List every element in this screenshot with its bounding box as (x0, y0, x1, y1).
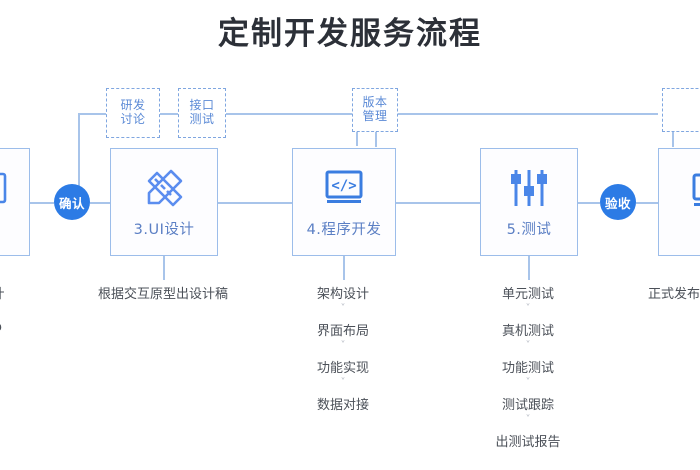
node-caption: 5.测试 (507, 218, 552, 239)
connector-node4-node5 (396, 202, 480, 204)
connector-node5-badge2 (578, 202, 600, 204)
chevron-icon: ˅ (478, 303, 578, 314)
tag-version-control[interactable]: 版本 管理 (352, 88, 398, 132)
badge-label: 验收 (605, 193, 631, 212)
connector-top-left-stub (78, 113, 106, 115)
subcap-col4-item-2: 数据对接 (293, 394, 393, 413)
node-release[interactable]: 6 (658, 148, 700, 256)
badge-acceptance[interactable]: 验收 (600, 184, 636, 220)
tag-line1: 版本 (362, 96, 387, 110)
tag-right-cutoff[interactable] (662, 88, 700, 132)
node-caption: 划 (0, 218, 2, 239)
node-ui-design[interactable]: 3.UI设计 (110, 148, 218, 256)
node-product-planning[interactable]: 划 (0, 148, 30, 256)
chevron-icon: ˅ (478, 340, 578, 351)
pencil-ruler-icon (141, 165, 187, 211)
tag-line2: 讨论 (120, 113, 145, 127)
code-window-icon: </> (321, 165, 367, 211)
connector-badge2-node6 (636, 202, 658, 204)
chevron-icon: ˅ (478, 377, 578, 388)
connector-badge1-node3 (90, 202, 110, 204)
connector-node3-node4 (218, 202, 292, 204)
badge-confirm[interactable]: 确认 (54, 184, 90, 220)
node-testing[interactable]: 5.测试 (480, 148, 578, 256)
chevron-icon: ˅ (293, 303, 393, 314)
tag-line2: 测试 (189, 113, 214, 127)
node-program-development[interactable]: </> 4.程序开发 (292, 148, 396, 256)
flowchart-canvas: 定制开发服务流程 划 (0, 0, 700, 470)
subcap-col4-header: 架构设计 (293, 283, 393, 302)
chevron-icon: ˅ (293, 377, 393, 388)
subcap-col5-item-2: 测试跟踪 (478, 394, 578, 413)
subcap-col6-header: 正式发布 (648, 283, 700, 302)
subcap-col5-item-1: 功能测试 (478, 357, 578, 376)
connector-tag3-to-node4 (375, 131, 377, 147)
badge-label: 确认 (59, 193, 85, 212)
tag-rd-discussion[interactable]: 研发 讨论 (106, 88, 160, 138)
connector-bus-right (396, 113, 658, 115)
connector-node3-subs (163, 256, 165, 280)
chevron-icon: ˅ (293, 340, 393, 351)
connector-tag4-to-node6 (672, 131, 674, 147)
tag-line1: 研发 (120, 99, 145, 113)
subcap-col4-item-1: 功能实现 (293, 357, 393, 376)
subcap-col3-header: 根据交互原型出设计稿 (73, 283, 253, 302)
subcap-col2-item-0: o (0, 320, 28, 335)
connector-tag2-right (226, 113, 356, 115)
tag-interface-test[interactable]: 接口 测试 (178, 88, 226, 138)
node-caption: 4.程序开发 (307, 218, 382, 239)
tag-line1: 接口 (189, 99, 214, 113)
connector-node2-badge1 (30, 202, 54, 204)
subcap-col5-item-3: 出测试报告 (478, 431, 578, 450)
node-caption: 3.UI设计 (134, 218, 195, 239)
subcap-col5-header: 单元测试 (478, 283, 578, 302)
subcap-col2-header: 计 (0, 283, 28, 302)
subcap-col5-item-0: 真机测试 (478, 320, 578, 339)
subcap-col4-item-0: 界面布局 (293, 320, 393, 339)
connector-tag1-tag2 (160, 113, 178, 115)
chevron-icon: ˅ (478, 414, 578, 425)
connector-node4-subs (343, 256, 345, 280)
svg-text:</>: </> (331, 178, 356, 194)
tag-line2: 管理 (362, 110, 387, 124)
planning-icon (0, 165, 14, 211)
launch-icon (687, 168, 700, 214)
page-title: 定制开发服务流程 (0, 8, 700, 53)
connector-node5-subs (528, 256, 530, 280)
sliders-icon (506, 165, 552, 211)
